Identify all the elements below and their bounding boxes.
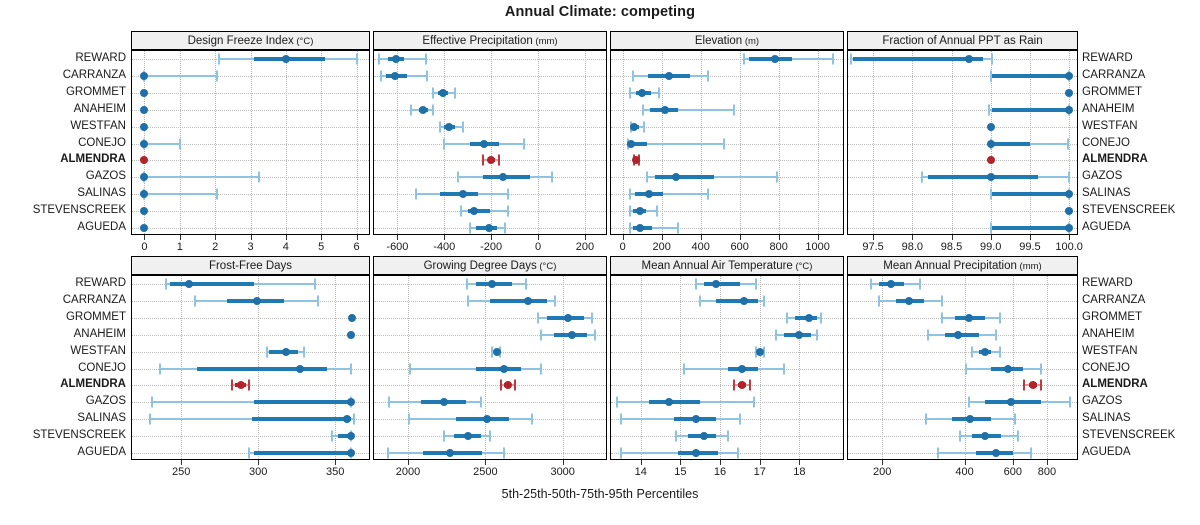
- axis-tick-label: 18: [793, 466, 805, 478]
- y-axis-label-left: SALINAS: [0, 412, 126, 424]
- axis-tick: [873, 235, 874, 240]
- axis-tick: [912, 235, 913, 240]
- axis-tick-label: 15: [674, 466, 686, 478]
- axis-tick: [491, 235, 492, 240]
- y-axis-label-left: AGUEDA: [0, 446, 126, 458]
- axis-tick: [818, 235, 819, 240]
- axis-tick-label: 14: [635, 466, 647, 478]
- y-axis-label-right: STEVENSCREEK: [1082, 204, 1198, 216]
- panel-plot-5: [131, 275, 370, 460]
- axis-tick-label: 800: [769, 241, 787, 253]
- series-agueda: [611, 276, 843, 459]
- axis-tick: [662, 235, 663, 240]
- y-axis-label-right: REWARD: [1082, 277, 1198, 289]
- axis-tick-label: 200: [873, 466, 891, 478]
- axis-tick: [444, 235, 445, 240]
- y-axis-label-right: WESTFAN: [1082, 120, 1198, 132]
- whisker-cap-low: [248, 447, 250, 458]
- y-axis-label-right: AGUEDA: [1082, 221, 1198, 233]
- axis-tick: [1069, 235, 1070, 240]
- series-agueda: [848, 276, 1077, 459]
- axis-tick: [1047, 460, 1048, 465]
- axis-tick-label: -400: [433, 241, 455, 253]
- axis-tick-label: 99.0: [980, 241, 1001, 253]
- panel-strip-2: Effective Precipitation (mm): [373, 31, 607, 50]
- y-axis-label-left: CARRANZA: [0, 69, 126, 81]
- y-axis-label-left: STEVENSCREEK: [0, 204, 126, 216]
- series-agueda: [611, 51, 843, 234]
- y-axis-label-left: GROMMET: [0, 86, 126, 98]
- y-axis-label-left: CARRANZA: [0, 294, 126, 306]
- y-axis-label-right: ANAHEIM: [1082, 103, 1198, 115]
- axis-tick-label: 600: [730, 241, 748, 253]
- median-marker: [446, 449, 454, 457]
- whisker-cap-high: [504, 222, 506, 233]
- y-axis-label-left: ANAHEIM: [0, 328, 126, 340]
- y-axis-label-right: ALMENDRA: [1082, 378, 1198, 390]
- axis-tick-label: 250: [172, 466, 190, 478]
- median-marker: [692, 449, 700, 457]
- axis-tick-label: 16: [714, 466, 726, 478]
- whisker-cap-low: [387, 447, 389, 458]
- axis-tick: [585, 235, 586, 240]
- panel-plot-1: [131, 50, 370, 235]
- axis-tick-label: 98.0: [902, 241, 923, 253]
- axis-tick-label: 200: [653, 241, 671, 253]
- axis-tick-label: 0: [535, 241, 541, 253]
- y-axis-label-right: ALMENDRA: [1082, 153, 1198, 165]
- box-25-75: [992, 226, 1069, 230]
- axis-tick: [720, 460, 721, 465]
- panel-plot-7: [610, 275, 844, 460]
- panel-plot-4: [847, 50, 1078, 235]
- panel-strip-label: Frost-Free Days: [209, 260, 292, 272]
- axis-tick-label: 0: [141, 241, 147, 253]
- y-axis-label-right: SALINAS: [1082, 412, 1198, 424]
- axis-tick: [357, 235, 358, 240]
- y-axis-label-right: ANAHEIM: [1082, 328, 1198, 340]
- axis-tick-label: 200: [576, 241, 594, 253]
- axis-tick: [538, 235, 539, 240]
- axis-tick-label: 350: [326, 466, 344, 478]
- axis-tick: [740, 235, 741, 240]
- axis-tick: [965, 460, 966, 465]
- figure-caption: 5th-25th-50th-75th-95th Percentiles: [0, 487, 1200, 501]
- axis-tick-label: 800: [1038, 466, 1056, 478]
- box-25-75: [254, 451, 351, 455]
- y-axis-label-left: SALINAS: [0, 187, 126, 199]
- whisker-cap-low: [629, 222, 631, 233]
- panel-plot-6: [373, 275, 607, 460]
- whisker-cap-low: [937, 447, 939, 458]
- climate-figure: Annual Climate: competing 5th-25th-50th-…: [0, 0, 1200, 525]
- panel-strip-label: Elevation (m): [695, 35, 759, 47]
- axis-tick-label: 5: [318, 241, 324, 253]
- y-axis-label-right: GROMMET: [1082, 311, 1198, 323]
- panel-plot-8: [847, 275, 1078, 460]
- panel-strip-5: Frost-Free Days: [131, 256, 370, 275]
- panel-strip-label: Fraction of Annual PPT as Rain: [882, 35, 1042, 47]
- panel-strip-8: Mean Annual Precipitation (mm): [847, 256, 1078, 275]
- axis-tick: [215, 235, 216, 240]
- axis-tick-label: -200: [480, 241, 502, 253]
- y-axis-label-left: WESTFAN: [0, 120, 126, 132]
- axis-tick: [144, 235, 145, 240]
- panel-strip-label: Mean Annual Air Temperature (°C): [642, 260, 813, 272]
- y-axis-label-right: AGUEDA: [1082, 446, 1198, 458]
- axis-tick-label: 2000: [396, 466, 420, 478]
- panel-strip-1: Design Freeze Index (°C): [131, 31, 370, 50]
- series-agueda: [374, 51, 606, 234]
- panel-strip-label: Design Freeze Index (°C): [188, 35, 314, 47]
- y-axis-label-right: STEVENSCREEK: [1082, 429, 1198, 441]
- series-agueda: [374, 276, 606, 459]
- axis-tick-label: 4: [283, 241, 289, 253]
- axis-tick-label: 6: [354, 241, 360, 253]
- axis-tick: [799, 460, 800, 465]
- axis-tick: [563, 460, 564, 465]
- axis-tick: [397, 235, 398, 240]
- axis-tick-label: 0: [620, 241, 626, 253]
- y-axis-label-left: ALMENDRA: [0, 378, 126, 390]
- y-axis-label-left: WESTFAN: [0, 345, 126, 357]
- panel-plot-3: [610, 50, 844, 235]
- whisker-cap-high: [737, 447, 739, 458]
- axis-tick-label: 97.5: [862, 241, 883, 253]
- figure-title: Annual Climate: competing: [0, 4, 1200, 20]
- y-axis-label-right: CARRANZA: [1082, 294, 1198, 306]
- axis-tick: [952, 235, 953, 240]
- axis-tick: [641, 460, 642, 465]
- axis-tick-label: -600: [386, 241, 408, 253]
- y-axis-label-right: GROMMET: [1082, 86, 1198, 98]
- series-agueda: [848, 51, 1077, 234]
- axis-tick: [760, 460, 761, 465]
- whisker-cap-low: [620, 447, 622, 458]
- axis-tick-label: 300: [249, 466, 267, 478]
- y-axis-label-left: STEVENSCREEK: [0, 429, 126, 441]
- panel-strip-3: Elevation (m): [610, 31, 844, 50]
- y-axis-label-left: GAZOS: [0, 395, 126, 407]
- series-agueda: [132, 51, 369, 234]
- axis-tick-label: 3000: [550, 466, 574, 478]
- axis-tick-label: 400: [691, 241, 709, 253]
- panel-strip-4: Fraction of Annual PPT as Rain: [847, 31, 1078, 50]
- y-axis-label-right: CONEJO: [1082, 362, 1198, 374]
- y-axis-label-left: REWARD: [0, 52, 126, 64]
- panel-strip-7: Mean Annual Air Temperature (°C): [610, 256, 844, 275]
- axis-tick: [1030, 235, 1031, 240]
- y-axis-label-right: WESTFAN: [1082, 345, 1198, 357]
- axis-tick-label: 3: [247, 241, 253, 253]
- axis-tick-label: 98.5: [941, 241, 962, 253]
- median-marker: [992, 449, 1000, 457]
- y-axis-label-left: ANAHEIM: [0, 103, 126, 115]
- axis-tick-label: 17: [754, 466, 766, 478]
- axis-tick-label: 100.0: [1055, 241, 1083, 253]
- panel-strip-label: Mean Annual Precipitation (mm): [883, 260, 1041, 272]
- median-marker: [1065, 224, 1073, 232]
- y-axis-label-left: GAZOS: [0, 170, 126, 182]
- axis-tick-label: 2: [212, 241, 218, 253]
- y-axis-label-left: REWARD: [0, 277, 126, 289]
- y-axis-label-left: ALMENDRA: [0, 153, 126, 165]
- median-marker: [636, 224, 644, 232]
- axis-tick: [408, 460, 409, 465]
- axis-tick: [335, 460, 336, 465]
- median-marker: [140, 224, 148, 232]
- series-agueda: [132, 276, 369, 459]
- axis-tick: [181, 460, 182, 465]
- y-axis-label-left: AGUEDA: [0, 221, 126, 233]
- whisker-cap-high: [677, 222, 679, 233]
- y-axis-label-right: SALINAS: [1082, 187, 1198, 199]
- axis-tick: [701, 235, 702, 240]
- y-axis-label-right: GAZOS: [1082, 395, 1198, 407]
- y-axis-label-right: GAZOS: [1082, 170, 1198, 182]
- axis-tick: [286, 235, 287, 240]
- axis-tick-label: 600: [1004, 466, 1022, 478]
- panel-plot-2: [373, 50, 607, 235]
- axis-tick-label: 2500: [473, 466, 497, 478]
- axis-tick: [882, 460, 883, 465]
- panel-strip-6: Growing Degree Days (°C): [373, 256, 607, 275]
- axis-tick: [251, 235, 252, 240]
- whisker-cap-high: [1030, 447, 1032, 458]
- axis-tick: [991, 235, 992, 240]
- axis-tick-label: 1000: [805, 241, 829, 253]
- axis-tick: [180, 235, 181, 240]
- median-marker: [485, 224, 493, 232]
- y-axis-label-left: CONEJO: [0, 137, 126, 149]
- axis-tick-label: 1: [177, 241, 183, 253]
- whisker-cap-low: [469, 222, 471, 233]
- axis-tick: [1013, 460, 1014, 465]
- axis-tick-label: 400: [955, 466, 973, 478]
- y-axis-label-left: CONEJO: [0, 362, 126, 374]
- panel-strip-label: Growing Degree Days (°C): [424, 260, 557, 272]
- y-axis-label-left: GROMMET: [0, 311, 126, 323]
- median-marker: [347, 449, 355, 457]
- axis-tick-label: 99.5: [1019, 241, 1040, 253]
- axis-tick: [258, 460, 259, 465]
- axis-tick: [623, 235, 624, 240]
- axis-tick: [779, 235, 780, 240]
- panel-strip-label: Effective Precipitation (mm): [422, 35, 557, 47]
- y-axis-label-right: CONEJO: [1082, 137, 1198, 149]
- whisker-cap-high: [503, 447, 505, 458]
- axis-tick: [485, 460, 486, 465]
- y-axis-label-right: CARRANZA: [1082, 69, 1198, 81]
- axis-tick: [680, 460, 681, 465]
- axis-tick: [321, 235, 322, 240]
- y-axis-label-right: REWARD: [1082, 52, 1198, 64]
